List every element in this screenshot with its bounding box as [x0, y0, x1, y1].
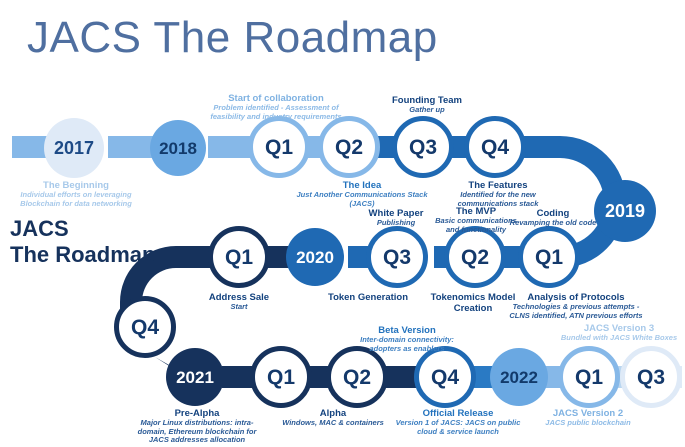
- node-2020-q1[interactable]: Q1: [208, 226, 270, 288]
- caption-pre-alpha: Pre-Alpha Major Linux distributions: int…: [131, 408, 263, 445]
- node-label: Q1: [535, 247, 563, 268]
- caption-detail: Problem identified - Assessment of feasi…: [190, 104, 362, 121]
- node-2020-q2[interactable]: Q2: [444, 226, 506, 288]
- node-2020-q3[interactable]: Q3: [366, 226, 428, 288]
- node-label: 2020: [296, 249, 334, 266]
- caption-detail: Inter-domain connectivity: adopters as e…: [344, 336, 470, 353]
- node-2020-q4[interactable]: Q4: [114, 296, 176, 358]
- node-2018[interactable]: 2018: [150, 120, 206, 176]
- node-label: Q2: [335, 137, 363, 158]
- caption-analysis-of-protocols: Analysis of Protocols Technologies & pre…: [496, 292, 656, 320]
- caption-detail: Start: [186, 303, 292, 312]
- node-2020[interactable]: 2020: [286, 228, 344, 286]
- caption-token-generation: Token Generation: [306, 292, 430, 303]
- node-label: Q1: [575, 367, 603, 388]
- page-title: JACS The Roadmap: [27, 12, 438, 64]
- caption-jacs-version-3: JACS Version 3 Bundled with JACS White B…: [553, 323, 685, 343]
- node-label: Q4: [481, 137, 509, 158]
- node-2021[interactable]: 2021: [166, 348, 224, 406]
- node-2021-q2[interactable]: Q2: [326, 346, 388, 408]
- caption-detail: Bundled with JACS White Boxes: [553, 334, 685, 343]
- node-label: Q3: [637, 367, 665, 388]
- node-2021-q4[interactable]: Q4: [414, 346, 476, 408]
- caption-the-idea: The Idea Just Another Communications Sta…: [282, 180, 442, 208]
- roadmap-infographic: JACS The Roadmap JACS The Roadmap 2017 2…: [0, 0, 685, 447]
- caption-the-features: The Features Identified for the new comm…: [437, 180, 559, 208]
- caption-the-beginning: The Beginning Individual efforts on leve…: [6, 180, 146, 208]
- node-label: Q1: [267, 367, 295, 388]
- node-2019-q1[interactable]: Q1: [248, 116, 310, 178]
- caption-detail: Just Another Communications Stack (JACS): [282, 191, 442, 208]
- node-label: Q2: [461, 247, 489, 268]
- caption-beta-version: Beta Version Inter-domain connectivity: …: [344, 325, 470, 353]
- node-2021-q1[interactable]: Q1: [250, 346, 312, 408]
- subtitle-line-2: The Roadmap: [10, 242, 190, 268]
- node-2022[interactable]: 2022: [490, 348, 548, 406]
- caption-jacs-version-2: JACS Version 2 JACS public blockchain: [524, 408, 652, 428]
- caption-detail: Major Linux distributions: intra- domain…: [131, 419, 263, 445]
- caption-alpha: Alpha Windows, MAC & containers: [272, 408, 394, 428]
- node-2019-q4[interactable]: Q4: [464, 116, 526, 178]
- caption-detail: Version 1 of JACS: JACS on public cloud …: [386, 419, 530, 436]
- node-label: Q3: [409, 137, 437, 158]
- node-2020-q1-analysis[interactable]: Q1: [518, 226, 580, 288]
- node-label: 2022: [500, 369, 538, 386]
- node-2022-q3[interactable]: Q3: [620, 346, 682, 408]
- caption-start-of-collaboration: Start of collaboration Problem identifie…: [190, 93, 362, 121]
- subtitle-line-1: JACS: [10, 216, 190, 242]
- node-label: Q1: [225, 247, 253, 268]
- caption-detail: Gather up: [368, 106, 486, 115]
- caption-heading: Token Generation: [306, 292, 430, 303]
- caption-detail: JACS public blockchain: [524, 419, 652, 428]
- node-label: 2017: [54, 139, 94, 157]
- node-label: Q2: [343, 367, 371, 388]
- node-label: Q1: [265, 137, 293, 158]
- node-2019-q2[interactable]: Q2: [318, 116, 380, 178]
- caption-detail: Technologies & previous attempts - CLNS …: [496, 303, 656, 320]
- node-label: 2021: [176, 369, 214, 386]
- caption-address-sale: Address Sale Start: [186, 292, 292, 312]
- caption-detail: Individual efforts on leveraging Blockch…: [6, 191, 146, 208]
- node-label: 2018: [159, 140, 197, 157]
- node-2022-q1[interactable]: Q1: [558, 346, 620, 408]
- roadmap-subtitle: JACS The Roadmap: [10, 216, 190, 268]
- caption-detail: Windows, MAC & containers: [272, 419, 394, 428]
- caption-official-release: Official Release Version 1 of JACS: JACS…: [386, 408, 530, 436]
- node-label: Q4: [431, 367, 459, 388]
- caption-detail: Revamping the old code: [497, 219, 609, 228]
- node-label: 2019: [605, 202, 645, 220]
- node-label: Q4: [131, 317, 159, 338]
- node-2019-q3[interactable]: Q3: [392, 116, 454, 178]
- node-2017[interactable]: 2017: [44, 118, 104, 178]
- caption-founding-team: Founding Team Gather up: [368, 95, 486, 115]
- node-label: Q3: [383, 247, 411, 268]
- caption-coding: Coding Revamping the old code: [497, 208, 609, 228]
